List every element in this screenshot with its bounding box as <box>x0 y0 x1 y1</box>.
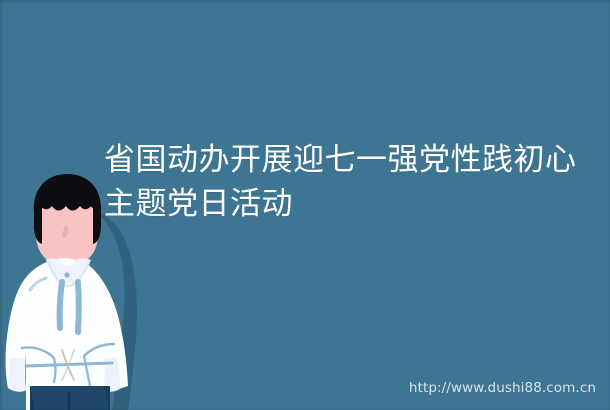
image-canvas: 省国动办开展迎七一强党性践初心主题党日活动 http://www.dushi88… <box>0 0 610 410</box>
watermark-url: http://www.dushi88.com.cn <box>409 380 596 396</box>
page-title: 省国动办开展迎七一强党性践初心主题党日活动 <box>104 138 600 226</box>
figure-trousers <box>30 386 110 410</box>
